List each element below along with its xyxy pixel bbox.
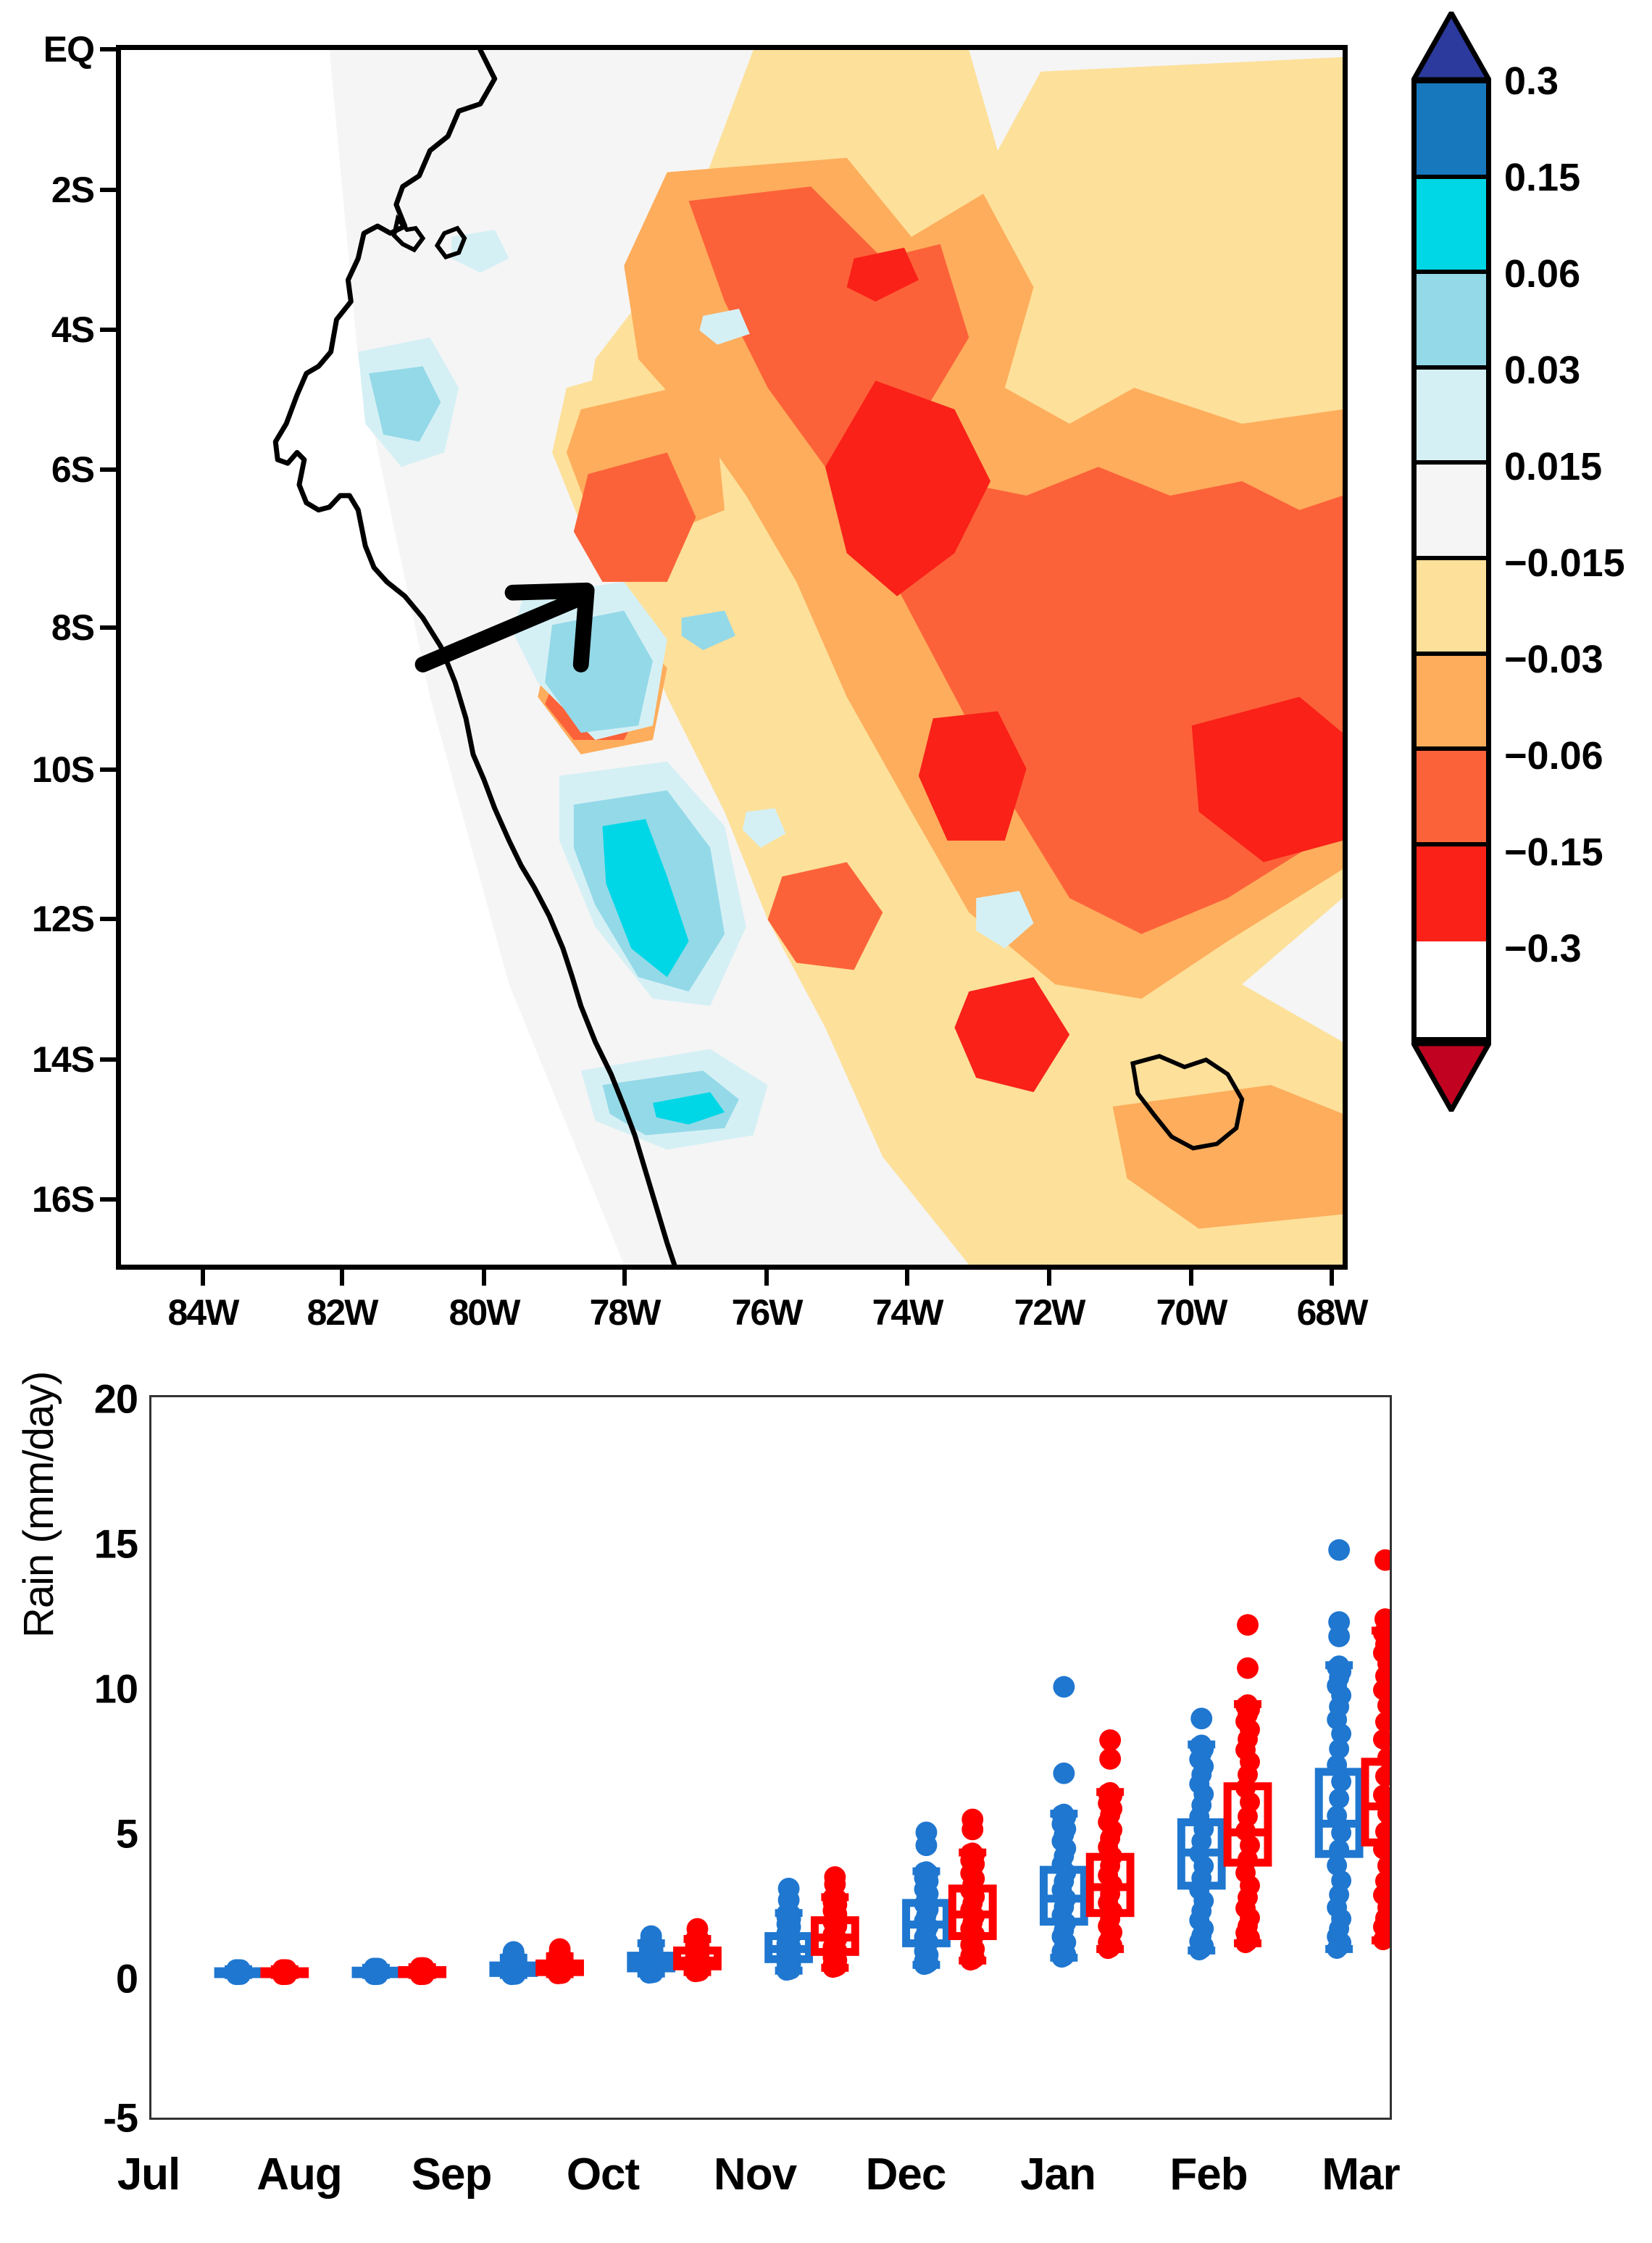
boxplot-y-axis-label: Rain (mm/day) (14, 1372, 63, 1638)
month-label-jul: Jul (117, 2149, 180, 2200)
lat-tick-2S (100, 188, 116, 192)
boxplot-box-red-series-Nov (814, 1866, 855, 1978)
boxplot-box-red-series-Sep (540, 1938, 580, 1984)
colorbar-bands (1411, 78, 1491, 1042)
month-label-jan: Jan (1020, 2149, 1096, 2200)
colorbar-label-0.03: 0.03 (1504, 348, 1580, 393)
colorbar-band-neg0.015-0.03 (1417, 560, 1486, 656)
boxplot-plot-area (149, 1395, 1392, 2120)
boxplot-box-red-series-Jan (1090, 1729, 1130, 1959)
month-label-aug: Aug (256, 2149, 342, 2200)
colorbar-label-0.06: 0.06 (1504, 251, 1580, 296)
lon-tick-78W (622, 1270, 627, 1286)
lat-label-4S: 4S (51, 309, 94, 351)
lat-tick-16S (100, 1197, 116, 1202)
colorbar-label-0.15: 0.15 (1504, 155, 1580, 200)
colorbar-band-0.06-0.15 (1417, 179, 1486, 275)
lat-tick-14S (100, 1057, 116, 1062)
y-tick-15: 15 (94, 1520, 138, 1568)
boxplot-graphics (151, 1397, 1390, 2118)
boxplot-box-blue-series-Oct (631, 1926, 672, 1984)
lat-label-6S: 6S (51, 449, 94, 491)
y-tick-10: 10 (94, 1665, 138, 1713)
colorbar: 0.3 0.15 0.06 0.03 0.015 −0.015 −0.03 −0… (1411, 12, 1491, 1107)
colorbar-band-0.03-0.06 (1417, 274, 1486, 370)
boxplot-box-blue-series-Mar (1319, 1539, 1359, 1959)
lat-tick-4S (100, 328, 116, 332)
lon-tick-74W (905, 1270, 909, 1286)
map-contour-field (121, 50, 1343, 1265)
lon-tick-70W (1189, 1270, 1193, 1286)
boxplot-box-red-series-Jul (264, 1959, 305, 1985)
boxplot-box-red-series-Feb (1227, 1614, 1268, 1953)
colorbar-label-neg0.3: −0.3 (1504, 926, 1582, 971)
colorbar-label-neg0.06: −0.06 (1504, 733, 1603, 778)
lat-label-EQ: EQ (43, 28, 94, 70)
boxplot-box-red-series-Mar (1365, 1549, 1390, 1950)
colorbar-band-neg0.15-0.3 (1417, 846, 1486, 942)
month-label-feb: Feb (1169, 2149, 1247, 2200)
lat-label-14S: 14S (32, 1039, 94, 1081)
colorbar-band-neg0.06-0.15 (1417, 751, 1486, 846)
boxplot-box-blue-series-Aug (356, 1957, 396, 1985)
colorbar-cap-top (1411, 12, 1491, 81)
lon-tick-82W (340, 1270, 344, 1286)
colorbar-cap-bottom (1411, 1042, 1491, 1112)
boxplot-box-blue-series-Nov (769, 1878, 809, 1981)
lat-tick-EQ (100, 47, 116, 51)
boxplot-box-red-series-Aug (402, 1957, 443, 1986)
boxplot-box-red-series-Dec (952, 1809, 993, 1971)
colorbar-band-neg0.03-0.06 (1417, 656, 1486, 752)
colorbar-label-0.015: 0.015 (1504, 444, 1602, 489)
boxplot-box-blue-series-Dec (906, 1821, 947, 1975)
boxplot-box-blue-series-Sep (493, 1941, 534, 1985)
month-label-mar: Mar (1322, 2149, 1399, 2200)
colorbar-band-0.15-0.3 (1417, 83, 1486, 179)
lat-tick-8S (100, 625, 116, 630)
lat-label-10S: 10S (32, 749, 94, 791)
lat-tick-12S (100, 917, 116, 921)
lat-label-8S: 8S (51, 607, 94, 649)
y-tick-0: 0 (116, 1955, 138, 2002)
lon-tick-76W (764, 1270, 769, 1286)
colorbar-band-0.015-0.03 (1417, 370, 1486, 465)
map-anomaly-panel: EQ 2S 4S 6S 8S 10S 12S 14S 16S 84W 82W (0, 0, 1652, 1355)
lon-tick-84W (201, 1270, 205, 1286)
colorbar-label-neg0.15: −0.15 (1504, 830, 1603, 875)
boxplot-box-blue-series-Jan (1043, 1676, 1084, 1968)
colorbar-label-0.3: 0.3 (1504, 59, 1559, 104)
lat-tick-10S (100, 767, 116, 772)
lat-label-16S: 16S (32, 1178, 94, 1220)
map-plot-area (116, 45, 1348, 1270)
lon-tick-72W (1047, 1270, 1051, 1286)
boxplot-box-red-series-Oct (677, 1918, 718, 1982)
lat-label-12S: 12S (32, 898, 94, 940)
month-label-dec: Dec (866, 2149, 946, 2200)
month-label-oct: Oct (567, 2149, 639, 2200)
month-label-sep: Sep (412, 2149, 492, 2200)
lat-label-2S: 2S (51, 169, 94, 211)
colorbar-band-neutral (1417, 465, 1486, 560)
month-label-nov: Nov (714, 2149, 796, 2200)
lon-tick-80W (482, 1270, 486, 1286)
y-tick--5: -5 (103, 2094, 138, 2142)
colorbar-label-neg0.015: −0.015 (1504, 541, 1625, 586)
boxplot-box-blue-series-Jul (218, 1959, 259, 1985)
y-tick-5: 5 (116, 1810, 138, 1857)
y-tick-20: 20 (94, 1376, 138, 1423)
figure-root: EQ 2S 4S 6S 8S 10S 12S 14S 16S 84W 82W (0, 0, 1652, 2243)
rain-boxplot-panel: Rain (mm/day) 20 15 10 5 0 -5 Jul Aug Se… (0, 1326, 1652, 2243)
lon-tick-68W (1330, 1270, 1334, 1286)
boxplot-box-blue-series-Feb (1181, 1707, 1222, 1960)
lat-tick-6S (100, 467, 116, 472)
colorbar-label-neg0.03: −0.03 (1504, 637, 1603, 682)
